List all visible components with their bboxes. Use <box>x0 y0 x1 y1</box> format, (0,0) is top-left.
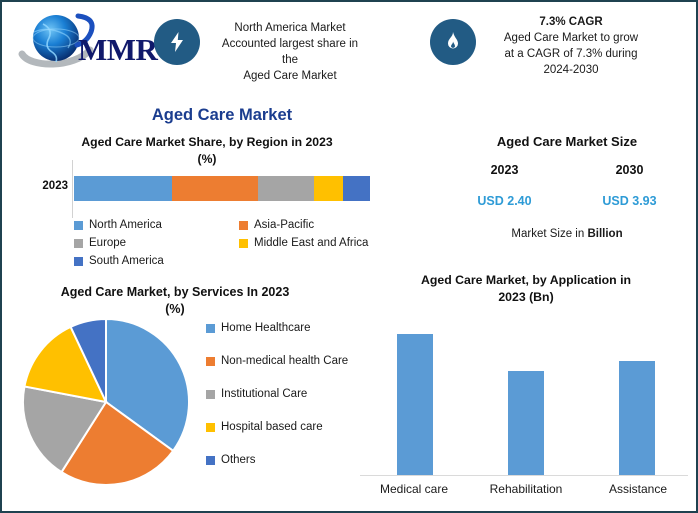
stacked-bar-segment <box>74 176 172 201</box>
market-size-value: USD 2.40 <box>442 194 567 208</box>
legend-item: North America <box>74 216 239 234</box>
legend-item: Others <box>206 452 356 468</box>
market-size-panel: Aged Care Market Size 2023 USD 2.40 2030… <box>442 134 692 264</box>
highlight-line-2: Aged Care Market to grow <box>490 30 652 46</box>
legend-label: Others <box>221 452 256 468</box>
x-axis-label: Assistance <box>583 482 693 496</box>
flame-glyph <box>441 30 465 54</box>
market-size-note-prefix: Market Size in <box>511 228 587 240</box>
y-axis-line <box>72 160 73 218</box>
stacked-bar-category-label: 2023 <box>26 180 68 192</box>
chart-title: Aged Care Market Share, by Region in 202… <box>10 134 404 168</box>
stacked-bar-segment <box>343 176 370 201</box>
highlight-line-4: 2024-2030 <box>490 62 652 78</box>
chart-title-line-2: (%) <box>10 301 340 318</box>
legend-item: Middle East and Africa <box>239 234 404 252</box>
chart-application: Aged Care Market, by Application in 2023… <box>358 272 694 510</box>
legend-label: Asia-Pacific <box>254 216 314 234</box>
highlight-line-3: Aged Care Market <box>214 68 366 84</box>
legend-label: Home Healthcare <box>221 320 310 336</box>
legend-swatch <box>74 239 83 248</box>
legend-swatch <box>74 221 83 230</box>
logo-wordmark: MMR <box>78 32 157 68</box>
x-axis-label: Rehabilitation <box>471 482 581 496</box>
x-axis-labels: Medical careRehabilitationAssistance <box>358 482 694 496</box>
infographic-root: MMR North America Market Accounted large… <box>0 0 698 513</box>
legend-item: South America <box>74 252 239 270</box>
chart-title-line-1: Aged Care Market, by Application in <box>376 272 676 289</box>
chart-region-share: Aged Care Market Share, by Region in 202… <box>10 134 404 276</box>
highlight-line-1: North America Market <box>214 20 366 36</box>
pie-chart-svg <box>22 318 190 486</box>
legend-swatch <box>239 239 248 248</box>
legend-swatch <box>206 357 215 366</box>
stacked-bar-row: 2023 <box>10 172 404 206</box>
market-size-note-unit: Billion <box>587 228 622 240</box>
legend-label: North America <box>89 216 162 234</box>
header: MMR North America Market Accounted large… <box>2 2 698 94</box>
market-size-year-label: 2030 <box>567 163 692 177</box>
flame-icon <box>430 19 476 65</box>
chart-title-line-1: Aged Care Market, by Services In 2023 <box>10 284 340 301</box>
legend-item: Institutional Care <box>206 386 356 402</box>
stacked-bar-segment <box>172 176 258 201</box>
chart-legend: Home HealthcareNon-medical health CareIn… <box>206 320 356 485</box>
highlight-line-1: 7.3% CAGR <box>490 14 652 30</box>
stacked-bar-segment <box>314 176 344 201</box>
x-axis-line <box>360 475 688 476</box>
chart-services-share: Aged Care Market, by Services In 2023 (%… <box>10 284 360 508</box>
legend-label: Europe <box>89 234 126 252</box>
stacked-bar <box>74 176 370 201</box>
legend-item: Non-medical health Care <box>206 353 356 369</box>
legend-label: Non-medical health Care <box>221 353 348 369</box>
legend-swatch <box>239 221 248 230</box>
chart-title: Aged Care Market, by Services In 2023 (%… <box>10 284 340 318</box>
legend-item: Europe <box>74 234 239 252</box>
chart-title-line-2: 2023 (Bn) <box>376 289 676 306</box>
market-size-col-2023: 2023 USD 2.40 <box>442 163 567 208</box>
legend-label: Institutional Care <box>221 386 307 402</box>
stacked-bar-segment <box>258 176 314 201</box>
legend-swatch <box>206 456 215 465</box>
lightning-bolt-icon <box>154 19 200 65</box>
mmr-logo: MMR <box>16 10 148 72</box>
market-size-years: 2023 USD 2.40 2030 USD 3.93 <box>442 163 692 208</box>
highlight-line-2: Accounted largest share in the <box>214 36 366 68</box>
legend-label: Hospital based care <box>221 419 323 435</box>
legend-item: Asia-Pacific <box>239 216 404 234</box>
legend-label: Middle East and Africa <box>254 234 368 252</box>
market-size-title: Aged Care Market Size <box>442 134 692 149</box>
bar <box>397 334 433 475</box>
market-size-value: USD 3.93 <box>567 194 692 208</box>
header-highlight-text: 7.3% CAGR Aged Care Market to grow at a … <box>490 12 652 78</box>
page-title: Aged Care Market <box>2 106 442 125</box>
legend-swatch <box>74 257 83 266</box>
pie-graphic <box>22 318 190 486</box>
x-axis-label: Medical care <box>359 482 469 496</box>
legend-swatch <box>206 390 215 399</box>
legend-swatch <box>206 324 215 333</box>
header-highlight-north-america: North America Market Accounted largest s… <box>154 12 366 84</box>
bar <box>619 361 655 475</box>
lightning-bolt-glyph <box>165 30 189 54</box>
legend-item: Home Healthcare <box>206 320 356 336</box>
highlight-line-3: at a CAGR of 7.3% during <box>490 46 652 62</box>
chart-title-line-1: Aged Care Market Share, by Region in 202… <box>10 134 404 151</box>
bar-series <box>360 320 692 475</box>
chart-title-line-2: (%) <box>10 151 404 168</box>
legend-swatch <box>206 423 215 432</box>
header-highlight-cagr: 7.3% CAGR Aged Care Market to grow at a … <box>430 12 652 78</box>
bar-plot-area <box>360 320 692 475</box>
market-size-note: Market Size in Billion <box>442 228 692 240</box>
market-size-year-label: 2023 <box>442 163 567 177</box>
chart-legend: North AmericaAsia-PacificEuropeMiddle Ea… <box>74 216 404 270</box>
legend-label: South America <box>89 252 164 270</box>
chart-title: Aged Care Market, by Application in 2023… <box>376 272 676 306</box>
legend-item: Hospital based care <box>206 419 356 435</box>
header-highlight-text: North America Market Accounted largest s… <box>214 12 366 84</box>
bar <box>508 371 544 475</box>
market-size-col-2030: 2030 USD 3.93 <box>567 163 692 208</box>
